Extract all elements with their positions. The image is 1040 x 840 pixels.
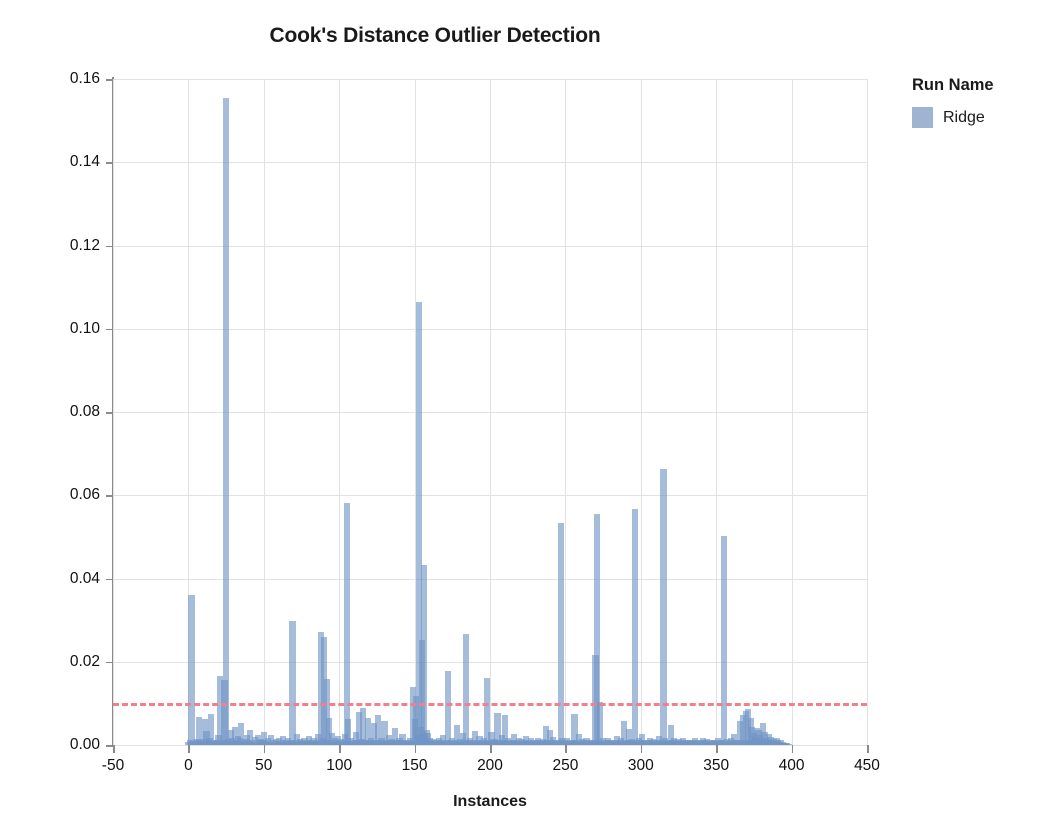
x-tick-mark <box>113 745 115 753</box>
legend-items: Ridge <box>912 107 1040 128</box>
y-tick-label: 0.06 <box>34 486 100 504</box>
legend-swatch <box>912 107 933 128</box>
legend-title: Run Name <box>912 76 1040 95</box>
x-tick-label: 250 <box>552 757 578 775</box>
x-tick-label: 0 <box>184 757 193 775</box>
x-tick-label: 200 <box>477 757 503 775</box>
x-tick-mark <box>415 745 417 753</box>
bar <box>558 523 564 745</box>
y-tick-mark <box>106 162 113 164</box>
gridline-vertical <box>867 79 868 745</box>
y-tick-label: 0.04 <box>34 570 100 588</box>
legend-item-ridge[interactable]: Ridge <box>912 107 1040 128</box>
x-tick-mark <box>716 745 718 753</box>
x-tick-mark <box>792 745 794 753</box>
x-tick-label: 300 <box>628 757 654 775</box>
y-tick-label: 0.14 <box>34 153 100 171</box>
x-tick-mark <box>188 745 190 753</box>
bar <box>721 536 727 745</box>
bar <box>223 98 229 745</box>
bar <box>344 503 350 745</box>
x-tick-mark <box>867 745 869 753</box>
chart-root: Cook's Distance Outlier Detection Influe… <box>0 0 1040 840</box>
y-tick-mark <box>106 745 113 747</box>
x-tick-mark <box>565 745 567 753</box>
bar <box>463 634 469 745</box>
x-tick-label: 450 <box>854 757 880 775</box>
y-tick-label: 0.00 <box>34 736 100 754</box>
x-tick-mark <box>339 745 341 753</box>
y-tick-mark <box>106 79 113 81</box>
y-tick-mark <box>106 579 113 581</box>
y-tick-mark <box>106 495 113 497</box>
x-tick-mark <box>641 745 643 753</box>
bar <box>188 595 194 745</box>
y-tick-label: 0.16 <box>34 70 100 88</box>
y-tick-mark <box>106 662 113 664</box>
x-tick-mark <box>264 745 266 753</box>
y-tick-label: 0.02 <box>34 653 100 671</box>
bar <box>421 565 427 745</box>
bar <box>632 509 638 745</box>
y-tick-mark <box>106 329 113 331</box>
threshold-line <box>113 703 867 706</box>
x-tick-label: 350 <box>703 757 729 775</box>
x-tick-label: 400 <box>779 757 805 775</box>
bar <box>445 671 451 745</box>
legend-item-label: Ridge <box>943 109 985 127</box>
bar-series-ridge <box>113 79 867 745</box>
x-tick-label: 50 <box>255 757 272 775</box>
y-tick-mark <box>106 412 113 414</box>
plot-area: 0.000.020.040.060.080.100.120.140.16 -50… <box>113 79 867 745</box>
y-tick-mark <box>106 246 113 248</box>
x-axis-title: Instances <box>113 793 867 811</box>
x-tick-label: -50 <box>102 757 124 775</box>
y-tick-label: 0.08 <box>34 403 100 421</box>
bar <box>289 621 295 745</box>
y-tick-label: 0.12 <box>34 237 100 255</box>
x-tick-label: 100 <box>326 757 352 775</box>
legend: Run Name Ridge <box>912 76 1040 128</box>
x-tick-mark <box>490 745 492 753</box>
x-tick-label: 150 <box>402 757 428 775</box>
page-title: Cook's Distance Outlier Detection <box>0 24 870 48</box>
y-tick-label: 0.10 <box>34 320 100 338</box>
